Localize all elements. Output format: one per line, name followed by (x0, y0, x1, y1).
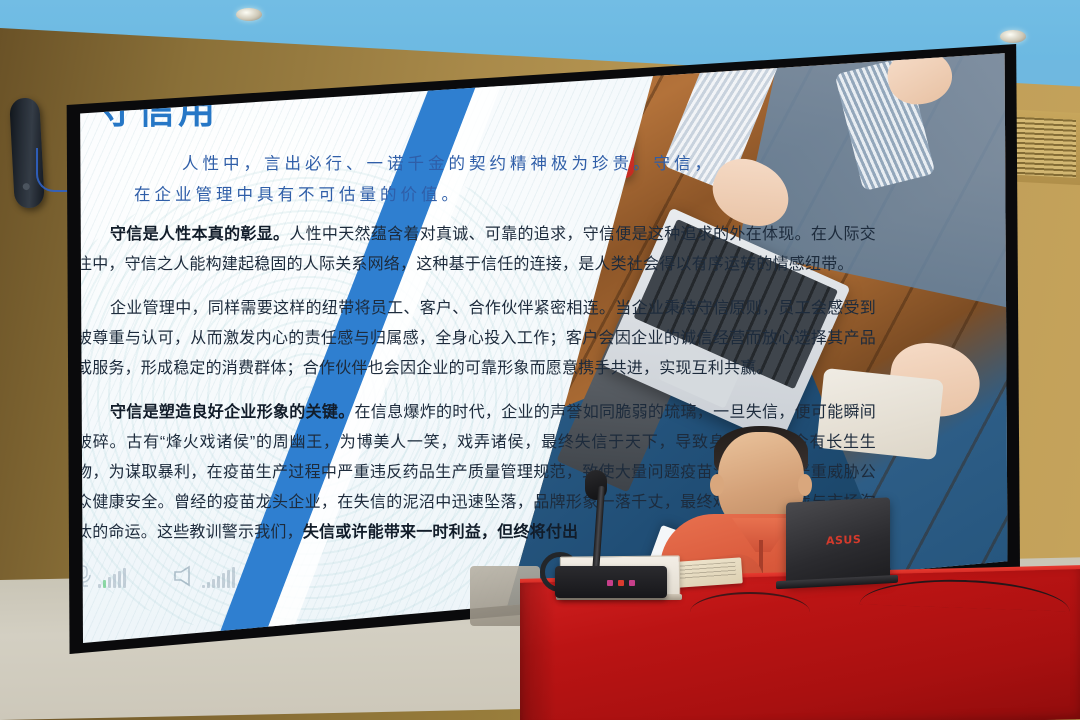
microphone-level-bars (98, 568, 126, 588)
microphone-base[interactable] (555, 566, 667, 598)
laptop-brand-logo: ASUS (826, 533, 850, 546)
paragraph-3-tail: 失信或许能带来一时利益，但终将付出 (303, 524, 578, 541)
paragraph-1: 守信是人性本真的彰显。人性中天然蕴含着对真诚、可靠的追求，守信便是这种追求的外在… (76, 220, 876, 280)
paragraph-2-text: 企业管理中，同样需要这样的纽带将员工、客户、合作伙伴紧密相连。当企业秉持守信原则… (76, 300, 876, 377)
speaker-icon (172, 564, 198, 588)
slide-intro-text: 人性中，言出必行、一诺千金的契约精神极为珍贵。守信，在企业管理中具有不可估量的价… (134, 148, 734, 210)
speaker-level-icon (172, 564, 235, 588)
ceiling-downlight (1000, 30, 1026, 43)
paragraph-1-lead: 守信是人性本真的彰显。 (110, 226, 289, 243)
screenshot-root: 守信用 人性中，言出必行、一诺千金的契约精神极为珍贵。守信，在企业管理中具有不可… (0, 0, 1080, 720)
microphone-indicator-leds (607, 580, 635, 586)
ceiling-downlight (236, 8, 262, 21)
paragraph-3-lead: 守信是塑造良好企业形象的关键。 (110, 404, 355, 421)
presenter-ear (798, 474, 812, 496)
paragraph-2: 企业管理中，同样需要这样的纽带将员工、客户、合作伙伴紧密相连。当企业秉持守信原则… (76, 294, 876, 384)
laptop[interactable]: ASUS (786, 497, 890, 584)
slide-status-icons (72, 564, 235, 588)
speaker-cable (36, 148, 72, 192)
presenter-ear (710, 474, 724, 496)
tablecloth-fold (520, 582, 556, 720)
speaker-level-bars (202, 568, 235, 588)
